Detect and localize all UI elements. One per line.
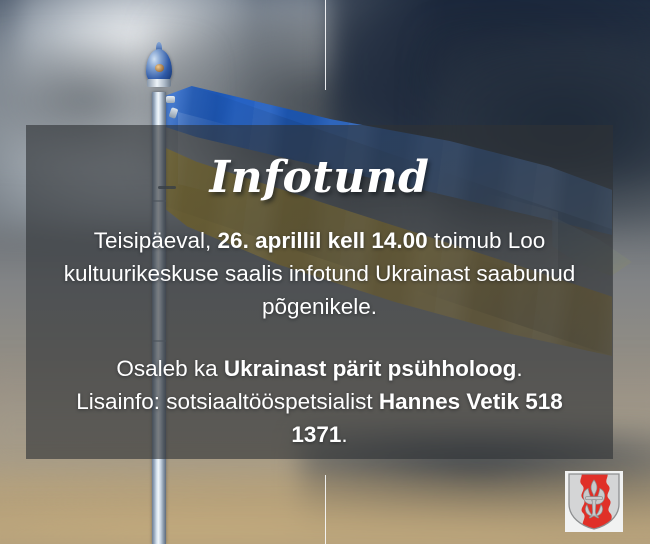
guy-wire-upper [325,0,326,90]
announcement-paragraph-2: Osaleb ka Ukrainast pärit psühholoog.Lis… [46,352,593,451]
coat-of-arms-logo [565,471,623,532]
poster-canvas: Infotund Teisipäeval, 26. aprillil kell … [0,0,650,544]
announcement-paragraph-1: Teisipäeval, 26. aprillil kell 14.00 toi… [46,224,593,323]
flagpole-finial-collar [147,79,171,87]
page-title: Infotund [26,152,613,203]
guy-wire-lower [325,475,326,544]
flagpole-finial-detail [155,64,164,72]
flag-halyard-clip-upper [166,96,175,103]
coat-of-arms-shield-icon [565,471,623,532]
